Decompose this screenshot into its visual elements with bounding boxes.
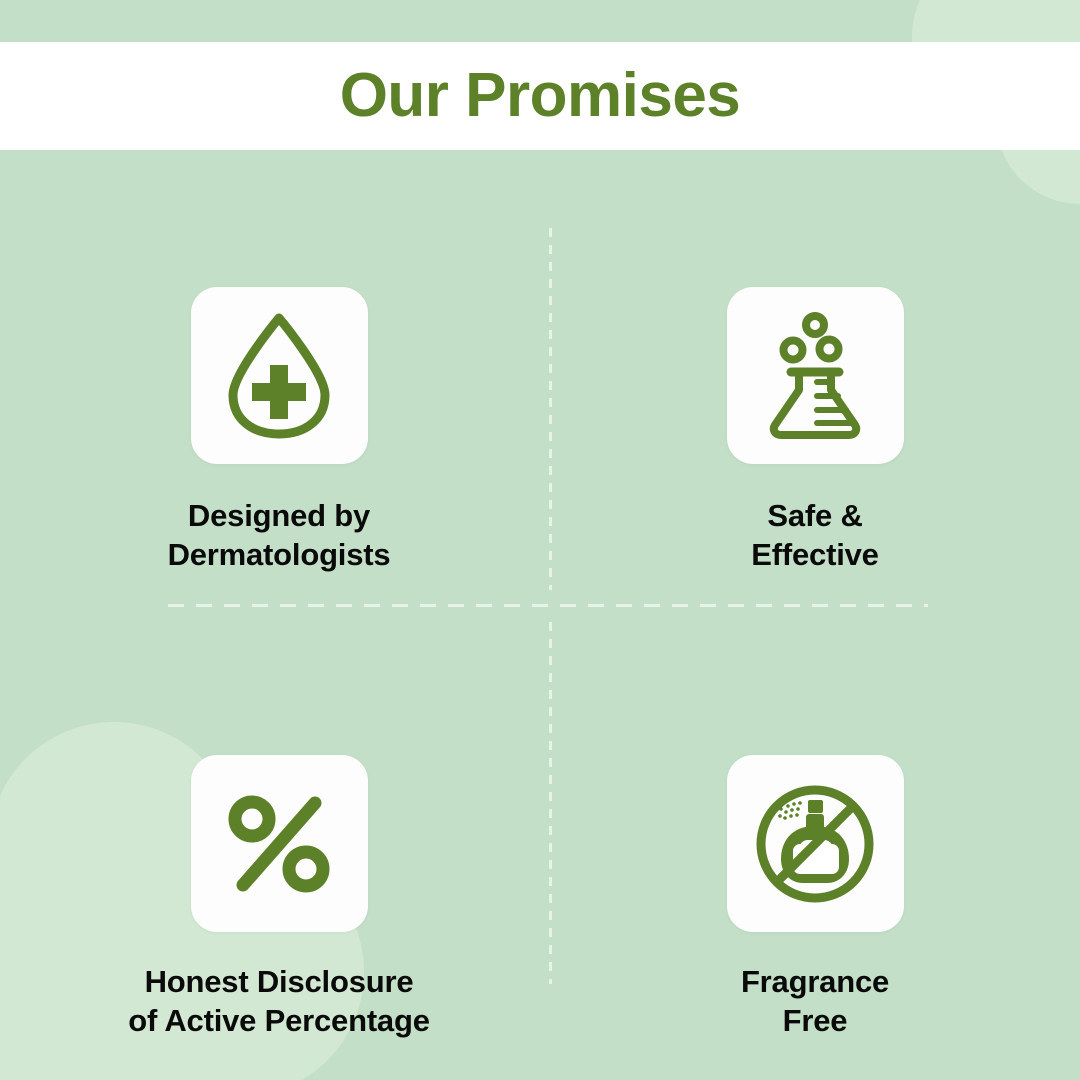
- icon-card-no-fragrance: [727, 755, 904, 932]
- promise-label: Honest Disclosure of Active Percentage: [128, 962, 430, 1040]
- icon-card-percent: [191, 755, 368, 932]
- percent-icon: [227, 794, 331, 894]
- no-fragrance-icon: [753, 782, 877, 906]
- promise-item-fragrance-free: Fragrance Free: [550, 620, 1080, 1080]
- promise-grid: Designed by Dermatologists: [0, 150, 1080, 1080]
- title-band: Our Promises: [0, 42, 1080, 150]
- promise-item-honest-disclosure: Honest Disclosure of Active Percentage: [0, 620, 550, 1080]
- promise-label: Designed by Dermatologists: [168, 496, 391, 574]
- promise-label: Fragrance Free: [741, 962, 889, 1040]
- promise-item-safe-and-effective: Safe & Effective: [550, 150, 1080, 620]
- page-title: Our Promises: [340, 65, 741, 127]
- flask-icon: [759, 312, 871, 440]
- icon-card-droplet-plus: [191, 287, 368, 464]
- droplet-plus-icon: [220, 313, 338, 439]
- promise-label: Safe & Effective: [751, 496, 878, 574]
- icon-card-flask: [727, 287, 904, 464]
- promise-item-designed-by-dermatologists: Designed by Dermatologists: [0, 150, 550, 620]
- promises-infographic: Our Promises Designed by Dermatologists: [0, 0, 1080, 1080]
